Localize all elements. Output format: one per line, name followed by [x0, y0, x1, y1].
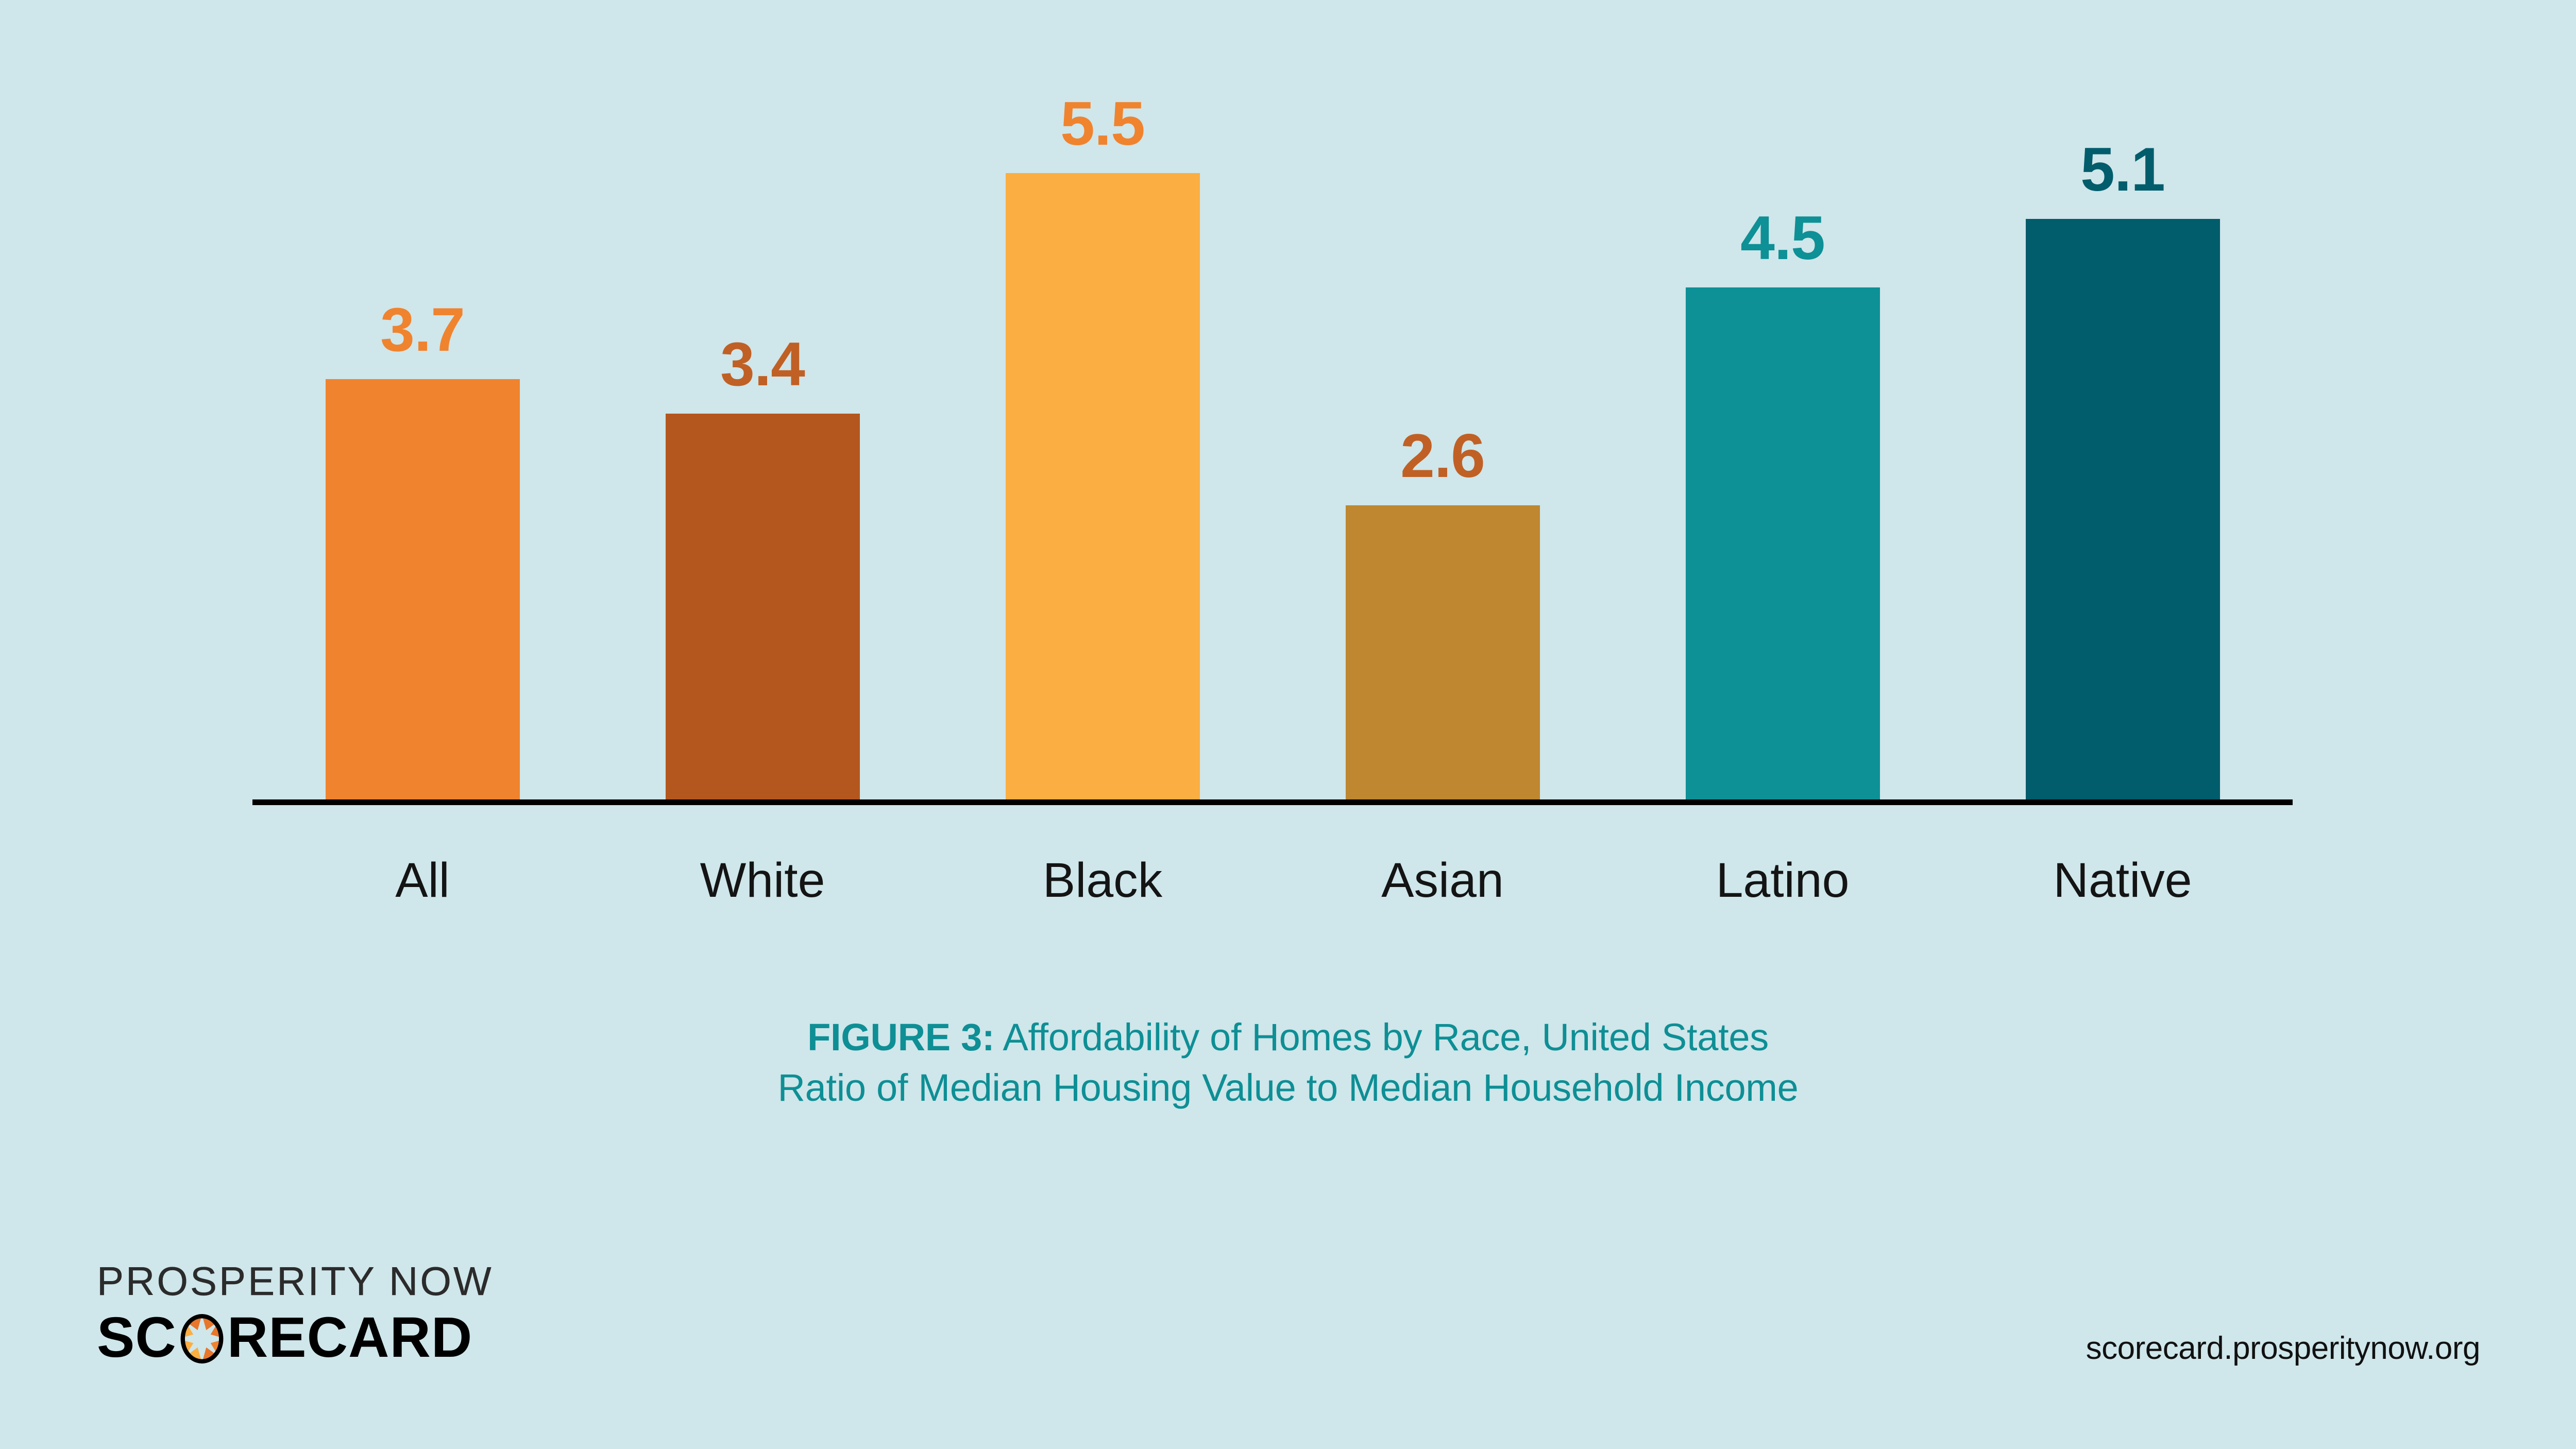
logo-scorecard-suffix: RECARD — [227, 1309, 473, 1366]
bar-group-black: 5.5 — [1006, 93, 1200, 804]
category-label-latino: Latino — [1686, 855, 1880, 907]
figure-number-label: FIGURE 3: — [807, 1016, 994, 1059]
bar-group-asian: 2.6 — [1346, 93, 1540, 804]
bar-value-label-all: 3.7 — [326, 299, 520, 361]
logo-prosperity-now-text: PROSPERITY NOW — [97, 1261, 540, 1301]
bar-value-label-white: 3.4 — [666, 333, 860, 395]
figure-title-line: FIGURE 3: Affordability of Homes by Race… — [0, 1012, 2576, 1063]
bar-native — [2026, 219, 2220, 804]
bar-group-white: 3.4 — [666, 93, 860, 804]
figure-caption: FIGURE 3: Affordability of Homes by Race… — [0, 1012, 2576, 1113]
scorecard-website-url: scorecard.prosperitynow.org — [2086, 1330, 2480, 1367]
bar-value-label-asian: 2.6 — [1346, 425, 1540, 487]
bar-value-label-black: 5.5 — [1006, 93, 1200, 155]
bar-group-all: 3.7 — [326, 93, 520, 804]
logo-scorecard-prefix: SC — [97, 1309, 177, 1366]
bar-latino — [1686, 287, 1880, 804]
category-label-white: White — [666, 855, 860, 907]
bar-chart-plot-area: 3.73.45.52.64.55.1 — [252, 93, 2293, 804]
figure-title-text: Affordability of Homes by Race, United S… — [1003, 1016, 1768, 1059]
x-axis-baseline — [252, 799, 2293, 805]
category-label-native: Native — [2026, 855, 2220, 907]
category-label-black: Black — [1006, 855, 1200, 907]
starburst-pinwheel-icon — [178, 1311, 226, 1367]
bar-value-label-native: 5.1 — [2026, 139, 2220, 200]
bar-all — [326, 379, 520, 804]
bar-group-native: 5.1 — [2026, 93, 2220, 804]
bar-value-label-latino: 4.5 — [1686, 207, 1880, 269]
logo-scorecard-text: SC — [97, 1309, 540, 1366]
figure-subtitle-line: Ratio of Median Housing Value to Median … — [0, 1063, 2576, 1113]
prosperity-now-scorecard-logo: PROSPERITY NOW SC — [97, 1261, 540, 1385]
category-label-asian: Asian — [1346, 855, 1540, 907]
x-axis-category-labels: AllWhiteBlackAsianLatinoNative — [252, 855, 2293, 912]
bar-black — [1006, 173, 1200, 804]
bar-asian — [1346, 505, 1540, 804]
category-label-all: All — [326, 855, 520, 907]
bar-group-latino: 4.5 — [1686, 93, 1880, 804]
bar-white — [666, 414, 860, 804]
